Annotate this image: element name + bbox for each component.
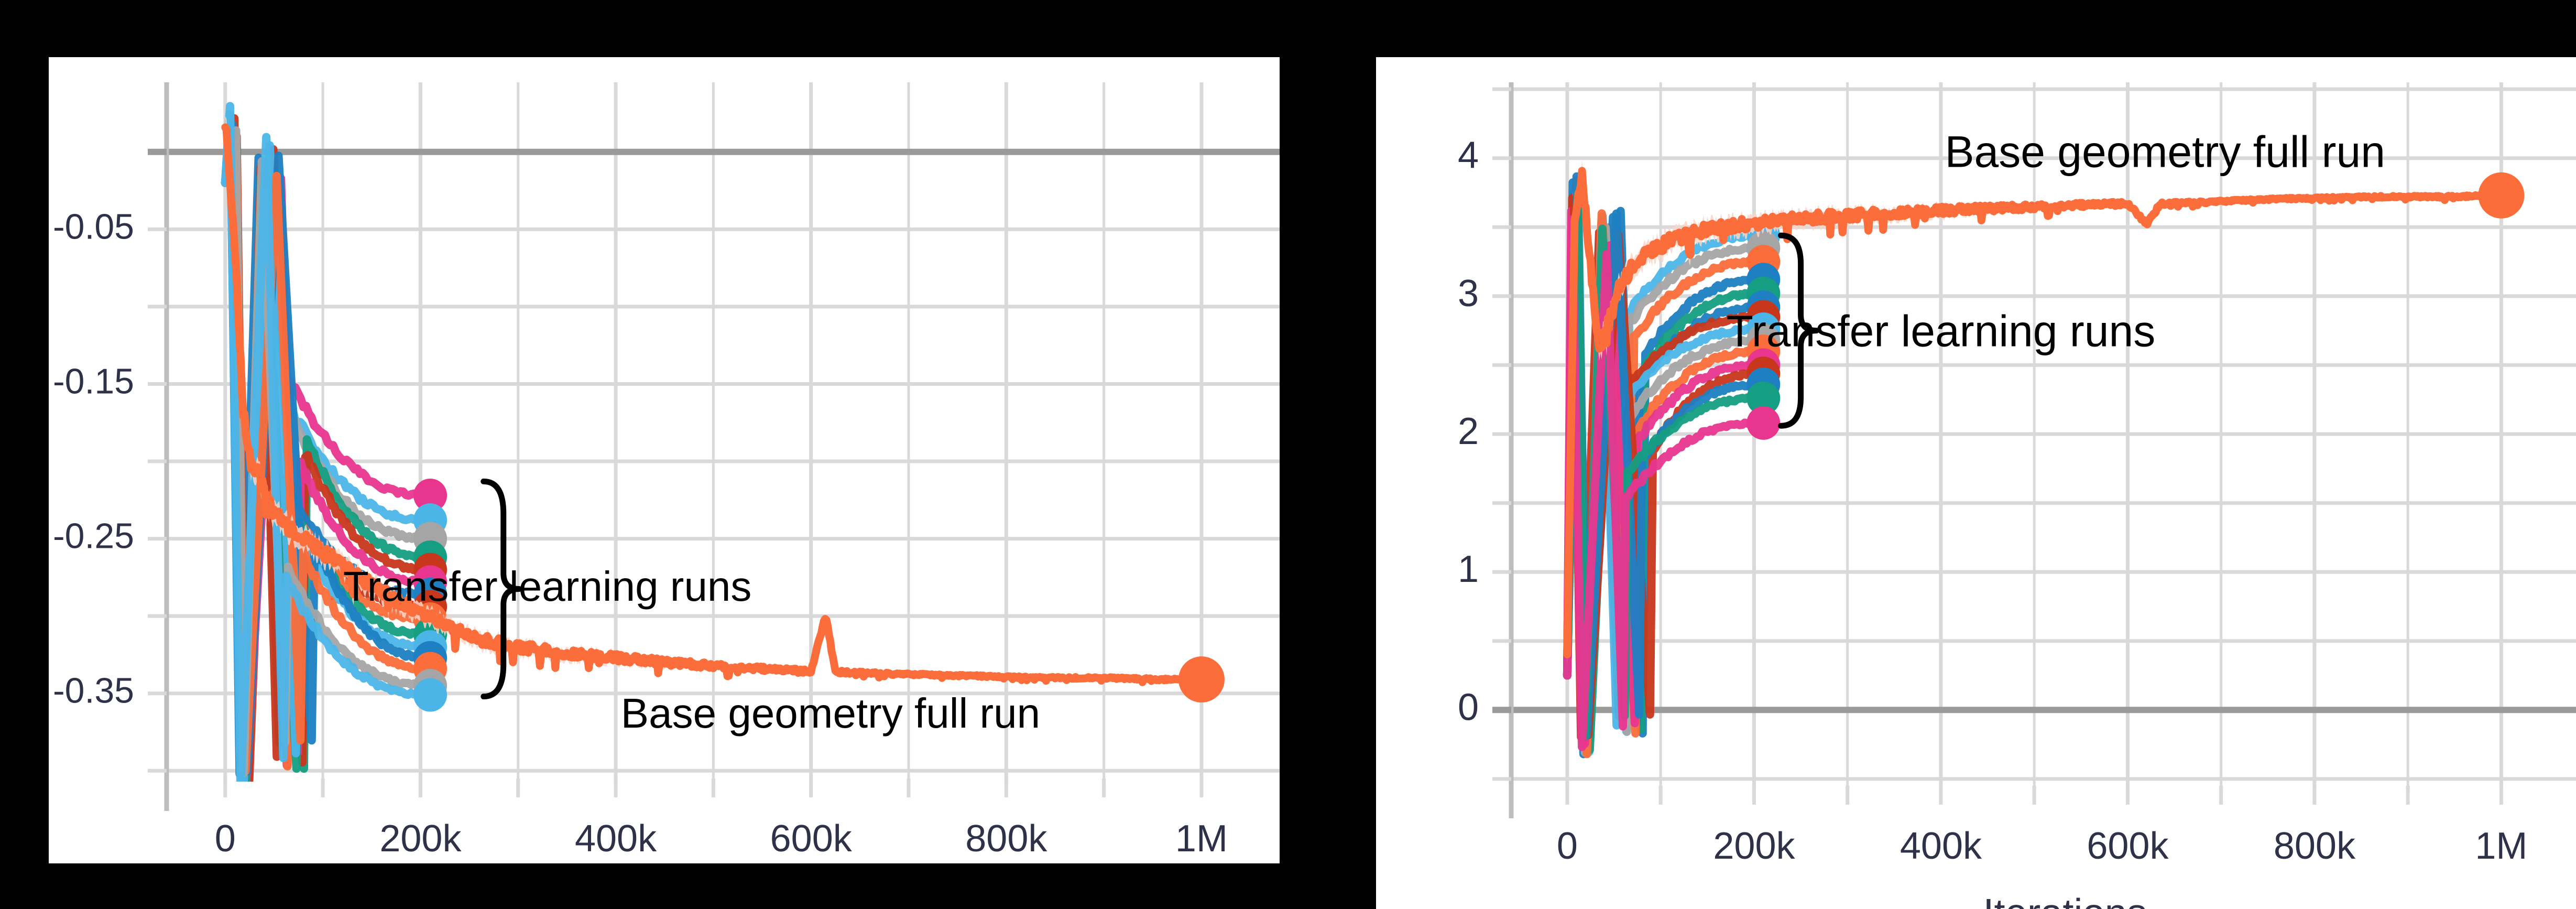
annotation-transfer-learning-runs: Transfer learning runs xyxy=(343,563,752,610)
chart-panel-right: 012340200k400k600k800k1MIterationsBase g… xyxy=(1376,57,2576,909)
series-endpoint-marker xyxy=(1747,406,1780,440)
base-run-endpoint-marker xyxy=(2478,172,2524,219)
y-tick-label: 3 xyxy=(1458,273,1479,315)
series-group xyxy=(1567,160,2525,754)
x-tick-label: 600k xyxy=(770,818,853,860)
x-tick-label: 800k xyxy=(965,818,1047,860)
base-run-endpoint-marker xyxy=(1178,656,1225,702)
annotation-transfer-learning-runs: Transfer learning runs xyxy=(1727,307,2156,356)
x-tick-label: 400k xyxy=(1900,825,1982,867)
y-tick-label: 4 xyxy=(1458,135,1479,177)
y-tick-label: -0.05 xyxy=(53,207,134,246)
y-tick-label: 2 xyxy=(1458,410,1479,452)
x-tick-label: 200k xyxy=(1713,825,1795,867)
left-chart-svg: -0.05-0.15-0.25-0.350200k400k600k800k1MT… xyxy=(49,57,1280,863)
right-chart-svg: 012340200k400k600k800k1MIterationsBase g… xyxy=(1376,57,2576,909)
x-axis-title: Iterations xyxy=(1983,891,2147,909)
annotation-base-geometry-full-run: Base geometry full run xyxy=(1945,127,2385,177)
x-tick-label: 1M xyxy=(2475,825,2527,867)
series-endpoint-marker xyxy=(413,678,447,712)
plot-clip-mask xyxy=(1376,57,2576,909)
chart-panel-left: -0.05-0.15-0.25-0.350200k400k600k800k1MT… xyxy=(49,57,1280,863)
x-tick-label: 600k xyxy=(2087,825,2169,867)
x-tick-label: 1M xyxy=(1175,818,1228,860)
y-tick-label: -0.35 xyxy=(53,671,134,711)
annotation-base-geometry-full-run: Base geometry full run xyxy=(621,690,1040,737)
x-tick-label: 0 xyxy=(215,818,236,860)
x-tick-label: 400k xyxy=(575,818,657,860)
y-tick-label: 0 xyxy=(1458,686,1479,728)
y-tick-label: -0.25 xyxy=(53,516,134,556)
x-tick-label: 800k xyxy=(2274,825,2356,867)
x-tick-label: 0 xyxy=(1557,825,1578,867)
y-tick-label: 1 xyxy=(1458,548,1479,590)
y-tick-label: -0.15 xyxy=(53,361,134,401)
figure-root: -0.05-0.15-0.25-0.350200k400k600k800k1MT… xyxy=(0,0,2576,909)
x-tick-label: 200k xyxy=(379,818,462,860)
